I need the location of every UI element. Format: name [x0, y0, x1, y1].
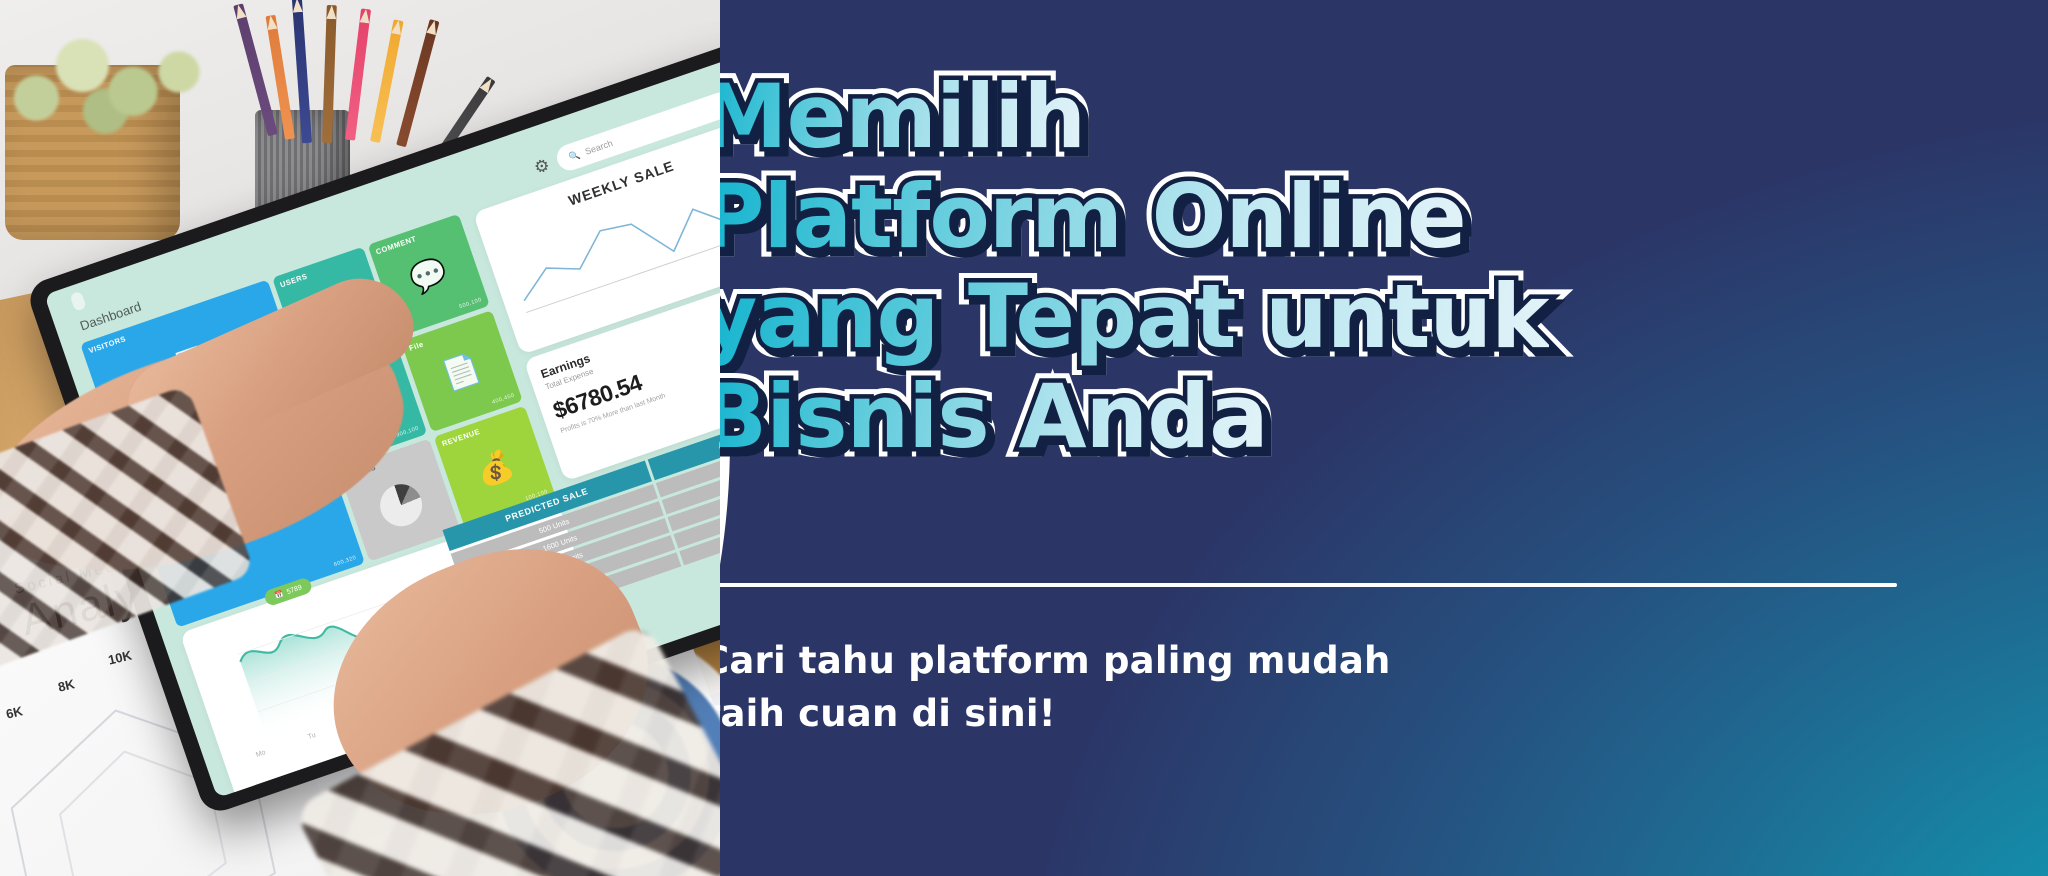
plant-pot: [5, 65, 180, 240]
subtitle-line-2: raih cuan di sini!: [702, 688, 1602, 741]
page-title: Memilih Memilih Memilih Memilih Platform…: [700, 68, 1960, 468]
money-bag-icon: 💰: [473, 449, 519, 490]
area-x-label: Mo: [255, 749, 266, 759]
badge-value: 5789: [286, 584, 303, 596]
pie-chart-icon: [374, 479, 427, 532]
kpi-value: 400,450: [492, 393, 516, 406]
headline-fill: yang Tepat untuk: [700, 268, 1549, 367]
headline-fill: Bisnis Anda: [700, 368, 1268, 467]
divider: [702, 583, 1897, 587]
headline-line-2: Platform Online Platform Online Platform…: [700, 168, 1960, 268]
search-icon: 🔍: [567, 149, 581, 163]
hero-photo: Social Media Analysis 6K 8K 10K Dashboar…: [0, 0, 720, 876]
page-subtitle: Cari tahu platform paling mudah raih cua…: [702, 635, 1602, 740]
kpi-value: 600,320: [333, 555, 357, 568]
headline-line-1: Memilih Memilih Memilih Memilih: [700, 68, 1960, 168]
banner-root: Social Media Analysis 6K 8K 10K Dashboar…: [0, 0, 2048, 876]
calendar-icon: 📅: [274, 590, 285, 600]
documents-icon: 📄: [440, 353, 486, 394]
kpi-label: USERS: [279, 272, 309, 290]
tablet-camera-icon: [70, 291, 87, 312]
headline-fill: Memilih: [700, 68, 1085, 167]
kpi-value: 500,100: [458, 297, 482, 310]
headline-line-4: Bisnis Anda Bisnis Anda Bisnis Anda Bisn…: [700, 368, 1960, 468]
kpi-label: REVENUE: [441, 427, 482, 448]
area-x-label: Tu: [307, 732, 317, 741]
kpi-label: COMMENT: [375, 234, 418, 256]
headline-fill: Platform Online: [700, 168, 1466, 267]
headline-line-3: yang Tepat untuk yang Tepat untuk yang T…: [700, 268, 1960, 368]
gear-icon[interactable]: ⚙: [532, 155, 553, 179]
weekly-sale-line-chart: [493, 146, 720, 326]
search-placeholder: Search: [584, 138, 614, 157]
subtitle-line-1: Cari tahu platform paling mudah: [702, 635, 1602, 688]
kpi-label: VISITORS: [87, 334, 127, 355]
comment-icon: 💬: [406, 257, 452, 298]
plant-leaves: [0, 20, 225, 150]
banner-content: Memilih Memilih Memilih Memilih Platform…: [700, 0, 2048, 876]
